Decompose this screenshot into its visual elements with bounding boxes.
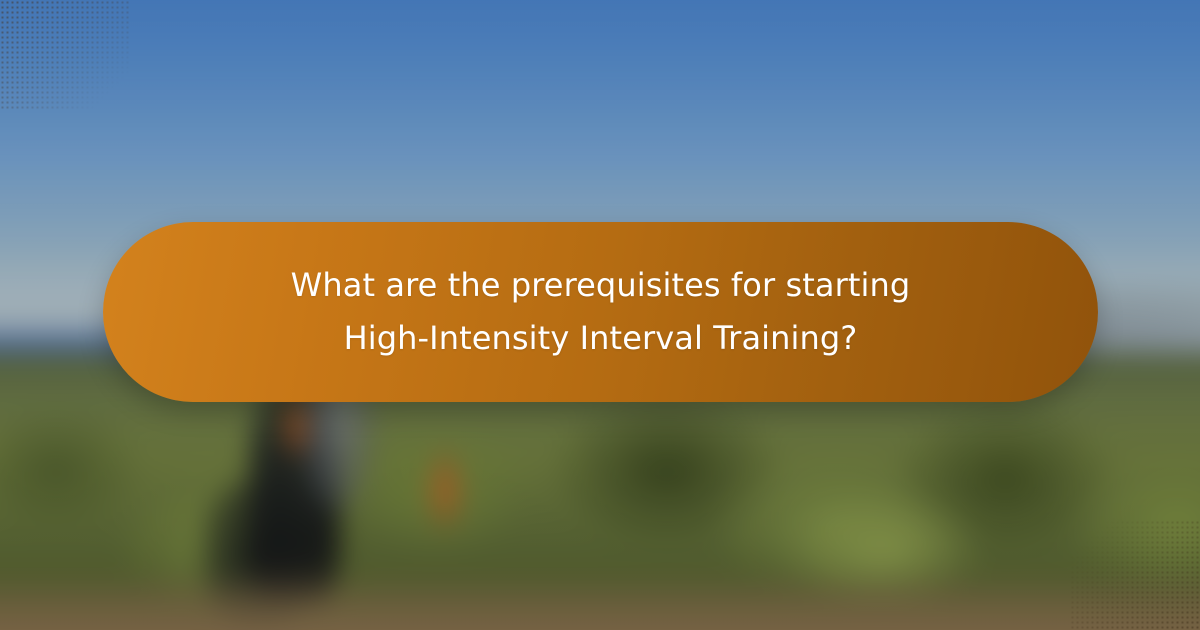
question-pill: What are the prerequisites for starting … <box>103 222 1098 402</box>
question-text: What are the prerequisites for starting … <box>251 259 951 365</box>
dirt-path-layer <box>0 570 1200 630</box>
question-card-canvas: What are the prerequisites for starting … <box>0 0 1200 630</box>
